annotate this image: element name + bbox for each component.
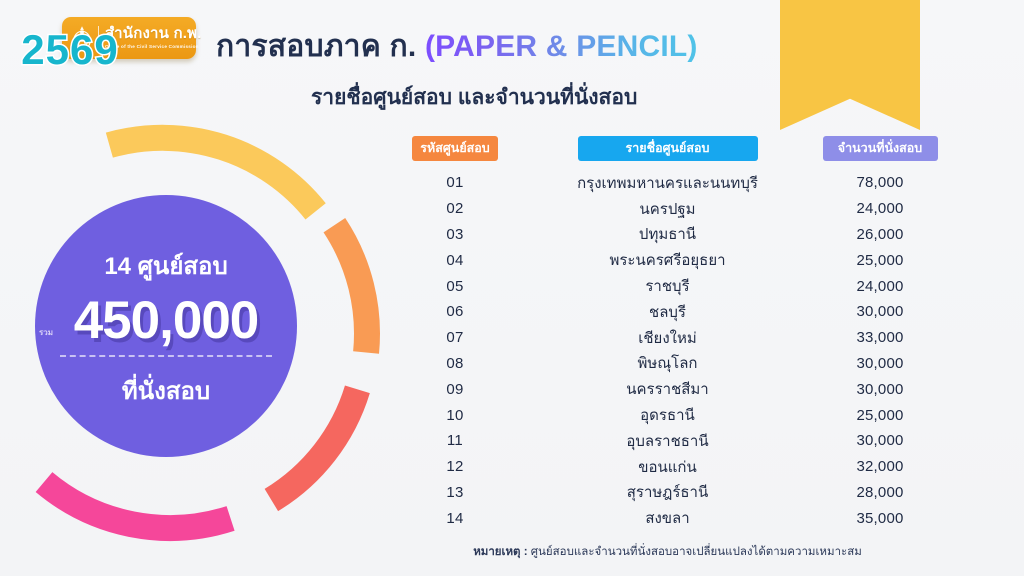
cell-center-name: ชลบุรี xyxy=(530,300,805,324)
page-title-english: (PAPER & PENCIL) xyxy=(425,30,698,63)
cell-seat-count: 30,000 xyxy=(805,381,955,398)
cell-center-code: 07 xyxy=(380,329,530,346)
cell-seat-count: 30,000 xyxy=(805,432,955,449)
cell-seat-count: 30,000 xyxy=(805,355,955,372)
cell-seat-count: 35,000 xyxy=(805,510,955,527)
table-row: 08พิษณุโลก30,000 xyxy=(380,351,955,377)
cell-center-name: กรุงเทพมหานครและนนทบุรี xyxy=(530,171,805,195)
table-header-seats: จำนวนที่นั่งสอบ xyxy=(823,136,938,161)
exam-centers-table: รหัสศูนย์สอบ รายชื่อศูนย์สอบ จำนวนที่นั่… xyxy=(380,136,955,531)
table-row: 09นครราชสีมา30,000 xyxy=(380,376,955,402)
arc-segment-red xyxy=(271,389,357,500)
cell-center-code: 06 xyxy=(380,303,530,320)
table-row: 05ราชบุรี24,000 xyxy=(380,273,955,299)
table-body: 01กรุงเทพมหานครและนนทบุรี78,00002นครปฐม2… xyxy=(380,170,955,531)
arc-segment-orange xyxy=(334,225,367,352)
cell-center-name: พิษณุโลก xyxy=(530,351,805,375)
cell-seat-count: 78,000 xyxy=(805,174,955,191)
cell-center-name: พระนครศรีอยุธยา xyxy=(530,248,805,272)
table-header-name-cell: รายชื่อศูนย์สอบ xyxy=(530,136,805,161)
summary-total-prefix: รวม xyxy=(39,326,53,339)
cell-center-code: 08 xyxy=(380,355,530,372)
summary-centers-label: 14 ศูนย์สอบ xyxy=(104,246,227,285)
table-row: 01กรุงเทพมหานครและนนทบุรี78,000 xyxy=(380,170,955,196)
page-title: การสอบภาค ก. (PAPER & PENCIL) xyxy=(216,23,698,70)
cell-seat-count: 30,000 xyxy=(805,303,955,320)
cell-seat-count: 25,000 xyxy=(805,252,955,269)
table-row: 12ขอนแก่น32,000 xyxy=(380,454,955,480)
cell-center-name: สงขลา xyxy=(530,506,805,530)
cell-center-name: ขอนแก่น xyxy=(530,455,805,479)
page-title-thai: การสอบภาค ก. xyxy=(216,30,425,63)
table-row: 14สงขลา35,000 xyxy=(380,505,955,531)
footnote-label: หมายเหตุ : xyxy=(473,546,527,558)
table-row: 10อุดรธานี25,000 xyxy=(380,402,955,428)
summary-total-row: รวม 450,000 xyxy=(35,293,297,349)
cell-center-name: นครปฐม xyxy=(530,197,805,221)
cell-center-name: อุดรธานี xyxy=(530,403,805,427)
cell-seat-count: 32,000 xyxy=(805,458,955,475)
cell-center-name: อุบลราชธานี xyxy=(530,429,805,453)
cell-seat-count: 26,000 xyxy=(805,226,955,243)
cell-center-code: 05 xyxy=(380,278,530,295)
table-row: 07เชียงใหม่33,000 xyxy=(380,325,955,351)
cell-center-code: 13 xyxy=(380,484,530,501)
table-header-code-cell: รหัสศูนย์สอบ xyxy=(380,136,530,161)
cell-center-name: นครราชสีมา xyxy=(530,377,805,401)
year-ribbon xyxy=(780,0,920,130)
table-row: 02นครปฐม24,000 xyxy=(380,196,955,222)
cell-center-name: สุราษฎร์ธานี xyxy=(530,480,805,504)
year-badge-label: 2569 xyxy=(0,26,140,74)
cell-seat-count: 24,000 xyxy=(805,278,955,295)
cell-center-code: 12 xyxy=(380,458,530,475)
cell-center-code: 10 xyxy=(380,407,530,424)
cell-seat-count: 28,000 xyxy=(805,484,955,501)
table-row: 11อุบลราชธานี30,000 xyxy=(380,428,955,454)
cell-seat-count: 25,000 xyxy=(805,407,955,424)
cell-center-code: 09 xyxy=(380,381,530,398)
cell-center-name: ราชบุรี xyxy=(530,274,805,298)
cell-center-name: ปทุมธานี xyxy=(530,222,805,246)
footnote-text: ศูนย์สอบและจำนวนที่นั่งสอบอาจเปลี่ยนแปลง… xyxy=(528,546,862,558)
cell-center-name: เชียงใหม่ xyxy=(530,326,805,350)
cell-seat-count: 24,000 xyxy=(805,200,955,217)
summary-circle: 14 ศูนย์สอบ รวม 450,000 ที่นั่งสอบ xyxy=(35,195,297,457)
table-footnote: หมายเหตุ : ศูนย์สอบและจำนวนที่นั่งสอบอาจ… xyxy=(380,543,955,561)
arc-segment-pink xyxy=(44,482,231,528)
infographic-canvas: สำนักงาน ก.พ. Office of the Civil Servic… xyxy=(0,0,1024,576)
summary-seats-label: ที่นั่งสอบ xyxy=(122,371,210,410)
cell-center-code: 01 xyxy=(380,174,530,191)
table-row: 03ปทุมธานี26,000 xyxy=(380,222,955,248)
cell-center-code: 11 xyxy=(380,432,530,449)
cell-center-code: 02 xyxy=(380,200,530,217)
summary-divider xyxy=(60,355,272,357)
table-header-row: รหัสศูนย์สอบ รายชื่อศูนย์สอบ จำนวนที่นั่… xyxy=(380,136,955,161)
table-row: 13สุราษฎร์ธานี28,000 xyxy=(380,480,955,506)
table-header-code: รหัสศูนย์สอบ xyxy=(412,136,498,161)
table-header-seats-cell: จำนวนที่นั่งสอบ xyxy=(805,136,955,161)
cell-center-code: 03 xyxy=(380,226,530,243)
cell-center-code: 04 xyxy=(380,252,530,269)
table-row: 04พระนครศรีอยุธยา25,000 xyxy=(380,247,955,273)
table-row: 06ชลบุรี30,000 xyxy=(380,299,955,325)
table-header-name: รายชื่อศูนย์สอบ xyxy=(578,136,758,161)
cell-center-code: 14 xyxy=(380,510,530,527)
cell-seat-count: 33,000 xyxy=(805,329,955,346)
summary-total-value: 450,000 xyxy=(74,293,259,349)
